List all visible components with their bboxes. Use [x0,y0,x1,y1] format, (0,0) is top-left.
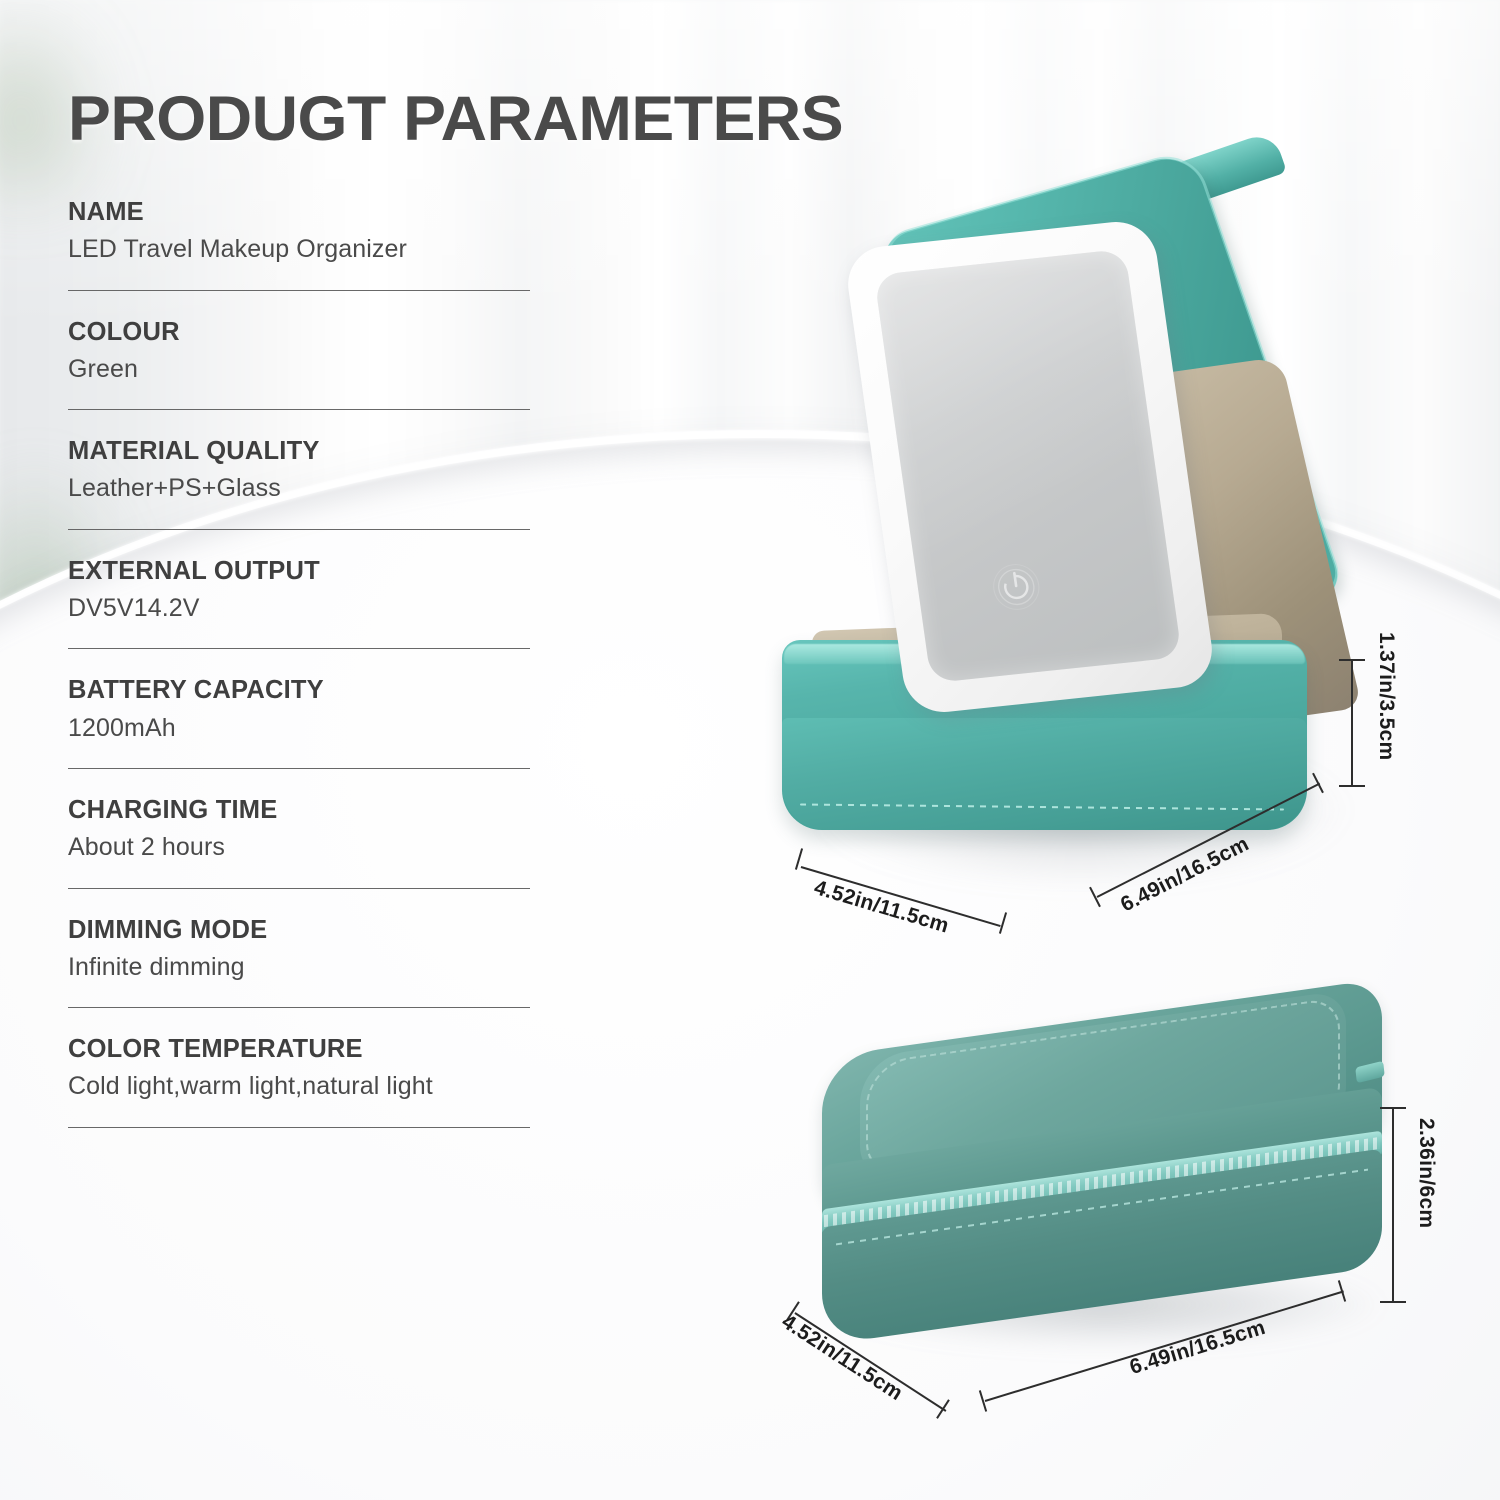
spec-value: Green [68,353,538,386]
spec-value: Cold light,warm light,natural light [68,1070,538,1103]
spec-value: LED Travel Makeup Organizer [68,233,538,266]
spec-row-name: NAME LED Travel Makeup Organizer [68,197,538,266]
spec-divider [68,409,530,410]
dimension-cap [1339,785,1365,787]
spec-divider [68,529,530,530]
spec-label: MATERIAL QUALITY [68,436,538,467]
spec-row-battery-capacity: BATTERY CAPACITY 1200mAh [68,675,538,744]
page-title: PRODUGT PARAMETERS [68,88,547,151]
spec-label: EXTERNAL OUTPUT [68,556,538,587]
case-tray-front [782,718,1307,830]
spec-divider [68,1127,530,1128]
product-image-closed-case [800,1010,1420,1340]
dimension-label-height: 1.37in/3.5cm [1374,632,1398,761]
spec-value: About 2 hours [68,831,538,864]
spec-row-dimming-mode: DIMMING MODE Infinite dimming [68,915,538,984]
spec-label: NAME [68,197,538,228]
product-parameters-page: PRODUGT PARAMETERS NAME LED Travel Makeu… [0,0,1500,1500]
spec-row-external-output: EXTERNAL OUTPUT DV5V14.2V [68,556,538,625]
spec-label: COLOR TEMPERATURE [68,1034,538,1065]
spec-divider [68,290,530,291]
spec-row-colour: COLOUR Green [68,317,538,386]
dimension-cap [1339,659,1365,661]
spec-row-color-temperature: COLOR TEMPERATURE Cold light,warm light,… [68,1034,538,1103]
power-icon[interactable] [988,558,1045,613]
product-image-open-case [760,170,1420,910]
spec-row-material-quality: MATERIAL QUALITY Leather+PS+Glass [68,436,538,505]
dimension-cap [1380,1301,1406,1303]
dimension-label-height: 2.36in/6cm [1414,1118,1438,1228]
dimension-cap [1380,1107,1406,1109]
spec-value: Leather+PS+Glass [68,472,538,505]
spec-divider [68,768,530,769]
spec-divider [68,888,530,889]
dimension-line-height [1392,1108,1394,1302]
specifications-panel: PRODUGT PARAMETERS NAME LED Travel Makeu… [68,88,538,1154]
spec-label: CHARGING TIME [68,795,538,826]
spec-row-charging-time: CHARGING TIME About 2 hours [68,795,538,864]
spec-label: COLOUR [68,317,538,348]
spec-label: BATTERY CAPACITY [68,675,538,706]
spec-label: DIMMING MODE [68,915,538,946]
spec-divider [68,1007,530,1008]
spec-value: DV5V14.2V [68,592,538,625]
spec-divider [68,648,530,649]
dimension-line-height [1351,660,1353,786]
spec-value: 1200mAh [68,712,538,745]
spec-value: Infinite dimming [68,951,538,984]
